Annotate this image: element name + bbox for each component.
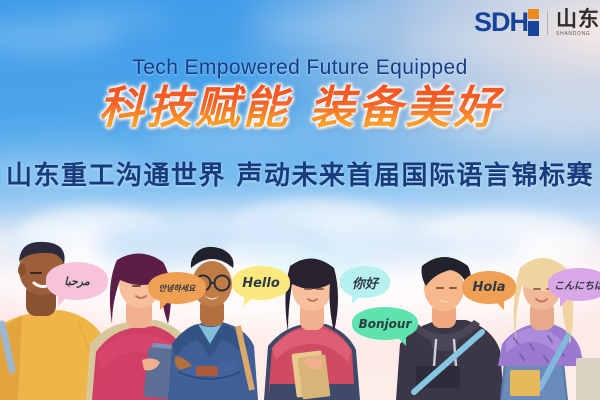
speech-bubble-tail-icon	[244, 294, 256, 306]
brand-logo: SDH 山东 SHANDONG	[474, 8, 600, 37]
sdhi-logo-letters: SDH	[474, 9, 528, 36]
speech-bubble-text: Bonjour	[359, 317, 412, 331]
speech-bubble-text: مرحبا	[64, 275, 89, 288]
speech-bubble-text: 안녕하세요	[159, 283, 196, 294]
logo-divider	[547, 11, 548, 35]
headline-chinese-sub: 山东重工沟通世界 声动未来首届国际语言锦标赛	[0, 155, 600, 192]
speech-bubble-tail-icon	[352, 292, 364, 304]
brand-cn-pinyin: SHANDONG	[556, 31, 600, 37]
speech-bubble-tail-icon	[560, 295, 572, 307]
speech-bubble-text: Hola	[472, 280, 505, 295]
speech-bubble-chinese: 你好	[340, 266, 390, 298]
speech-bubble-text: 你好	[352, 273, 378, 292]
speech-bubble-french: Bonjour	[352, 307, 418, 340]
speech-bubble-text: Hello	[242, 276, 280, 291]
brand-cn-main: 山东	[556, 8, 600, 30]
speech-bubble-tail-icon	[492, 298, 504, 310]
headline-chinese-main: 科技赋能 装备美好	[0, 84, 600, 133]
brand-chinese-name: 山东 SHANDONG	[556, 8, 600, 37]
speech-bubble-japanese: こんにちは	[548, 268, 600, 301]
speech-bubble-tail-icon	[58, 294, 70, 306]
speech-bubble-english: Hello	[232, 266, 290, 300]
logo-i-stem-icon	[528, 21, 539, 36]
speech-bubble-arabic: مرحبا	[46, 262, 108, 300]
headline-english: Tech Empowered Future Equipped	[0, 56, 600, 80]
speech-bubble-spanish: Hola	[462, 271, 516, 304]
poster-canvas: SDH 山东 SHANDONG Tech Empowered Future Eq…	[0, 0, 600, 400]
sdhi-logo-i-icon	[528, 9, 539, 36]
sdhi-logo-mark: SDH	[474, 9, 539, 36]
speech-bubble-text: こんにちは	[554, 277, 600, 292]
logo-i-dot-icon	[528, 9, 539, 19]
headline-block: Tech Empowered Future Equipped 科技赋能 装备美好…	[0, 56, 600, 192]
speech-bubble-korean: 안녕하세요	[148, 272, 206, 304]
speech-bubble-tail-icon	[160, 298, 172, 310]
speech-bubble-tail-icon	[394, 334, 406, 346]
